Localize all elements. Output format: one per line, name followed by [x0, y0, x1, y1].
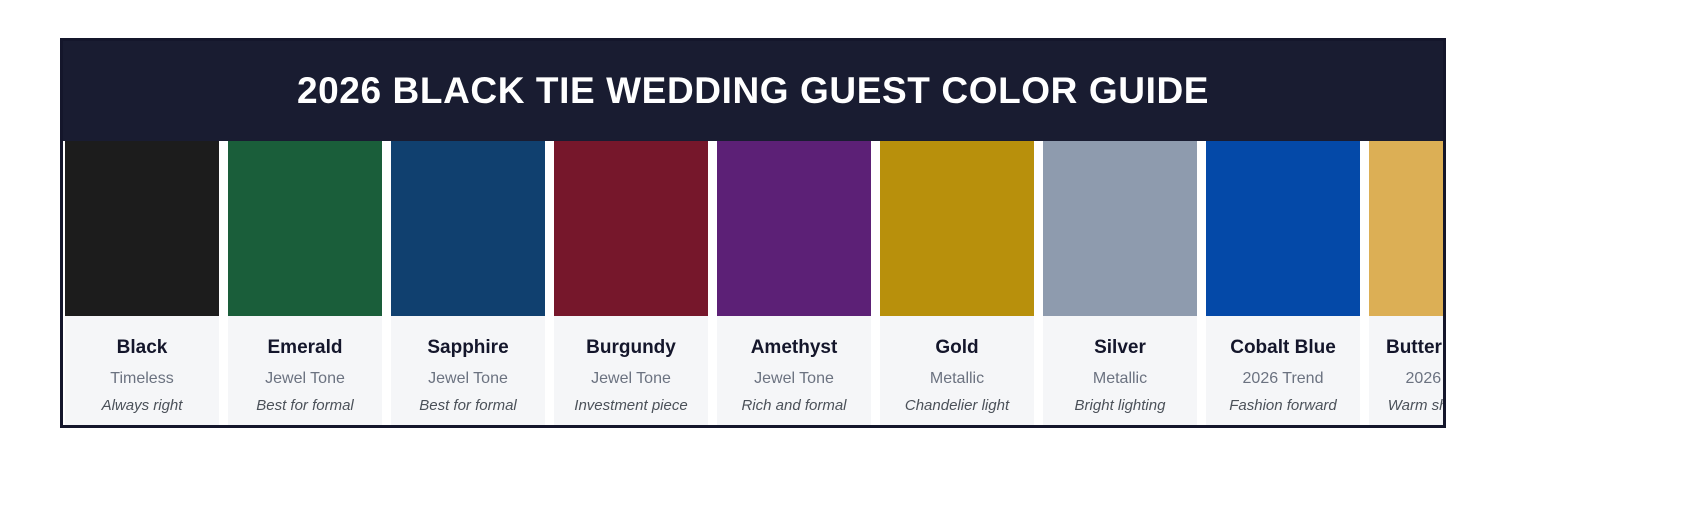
swatch-category: Jewel Tone [228, 370, 382, 388]
swatch-note: Investment piece [554, 398, 708, 415]
swatch-note: Rich and formal [717, 398, 871, 415]
swatch-name: Gold [880, 338, 1034, 359]
color-chip-amethyst [717, 141, 871, 316]
swatch-card-burgundy[interactable]: Burgundy Jewel Tone Investment piece [554, 141, 708, 428]
color-guide-frame: 2026 BLACK TIE WEDDING GUEST COLOR GUIDE… [60, 38, 1446, 428]
guide-header: 2026 BLACK TIE WEDDING GUEST COLOR GUIDE [63, 41, 1443, 141]
swatch-note: Best for formal [228, 398, 382, 415]
swatch-meta-silver: Silver Metallic Bright lighting [1043, 316, 1197, 428]
swatch-card-emerald[interactable]: Emerald Jewel Tone Best for formal [228, 141, 382, 428]
swatch-category: Metallic [880, 370, 1034, 388]
swatch-meta-cobalt-blue: Cobalt Blue 2026 Trend Fashion forward [1206, 316, 1360, 428]
swatch-card-cobalt-blue[interactable]: Cobalt Blue 2026 Trend Fashion forward [1206, 141, 1360, 428]
swatch-meta-butter-yellow: Butter Yellow 2026 Trend Warm shade only [1369, 316, 1446, 428]
swatch-name: Emerald [228, 338, 382, 359]
swatch-name: Sapphire [391, 338, 545, 359]
swatch-meta-black: Black Timeless Always right [65, 316, 219, 428]
color-chip-burgundy [554, 141, 708, 316]
color-chip-emerald [228, 141, 382, 316]
swatch-note: Best for formal [391, 398, 545, 415]
swatch-category: Metallic [1043, 370, 1197, 388]
swatch-note: Bright lighting [1043, 398, 1197, 415]
color-chip-cobalt-blue [1206, 141, 1360, 316]
swatch-note: Always right [65, 398, 219, 415]
swatch-category: Timeless [65, 370, 219, 388]
swatch-name: Silver [1043, 338, 1197, 359]
swatch-meta-emerald: Emerald Jewel Tone Best for formal [228, 316, 382, 428]
swatch-meta-sapphire: Sapphire Jewel Tone Best for formal [391, 316, 545, 428]
swatch-name: Burgundy [554, 338, 708, 359]
swatch-note: Chandelier light [880, 398, 1034, 415]
swatch-category: Jewel Tone [391, 370, 545, 388]
color-chip-black [65, 141, 219, 316]
swatch-card-black[interactable]: Black Timeless Always right [65, 141, 219, 428]
swatch-category: Jewel Tone [717, 370, 871, 388]
swatch-card-silver[interactable]: Silver Metallic Bright lighting [1043, 141, 1197, 428]
color-chip-sapphire [391, 141, 545, 316]
swatch-name: Amethyst [717, 338, 871, 359]
swatch-name: Cobalt Blue [1206, 338, 1360, 359]
swatch-category: 2026 Trend [1206, 370, 1360, 388]
swatch-note: Warm shade only [1369, 398, 1446, 415]
swatch-card-amethyst[interactable]: Amethyst Jewel Tone Rich and formal [717, 141, 871, 428]
swatch-card-sapphire[interactable]: Sapphire Jewel Tone Best for formal [391, 141, 545, 428]
swatch-name: Butter Yellow [1369, 338, 1446, 359]
swatch-meta-gold: Gold Metallic Chandelier light [880, 316, 1034, 428]
swatch-category: Jewel Tone [554, 370, 708, 388]
swatch-card-butter-yellow[interactable]: Butter Yellow 2026 Trend Warm shade only [1369, 141, 1446, 428]
page-title: 2026 BLACK TIE WEDDING GUEST COLOR GUIDE [297, 70, 1209, 112]
swatch-card-gold[interactable]: Gold Metallic Chandelier light [880, 141, 1034, 428]
swatch-category: 2026 Trend [1369, 370, 1446, 388]
swatch-row: Black Timeless Always right Emerald Jewe… [63, 141, 1446, 428]
swatch-meta-amethyst: Amethyst Jewel Tone Rich and formal [717, 316, 871, 428]
swatch-meta-burgundy: Burgundy Jewel Tone Investment piece [554, 316, 708, 428]
swatch-name: Black [65, 338, 219, 359]
color-chip-gold [880, 141, 1034, 316]
swatch-note: Fashion forward [1206, 398, 1360, 415]
color-chip-silver [1043, 141, 1197, 316]
color-chip-butter-yellow [1369, 141, 1446, 316]
color-guide-page: 2026 BLACK TIE WEDDING GUEST COLOR GUIDE… [0, 0, 1700, 528]
